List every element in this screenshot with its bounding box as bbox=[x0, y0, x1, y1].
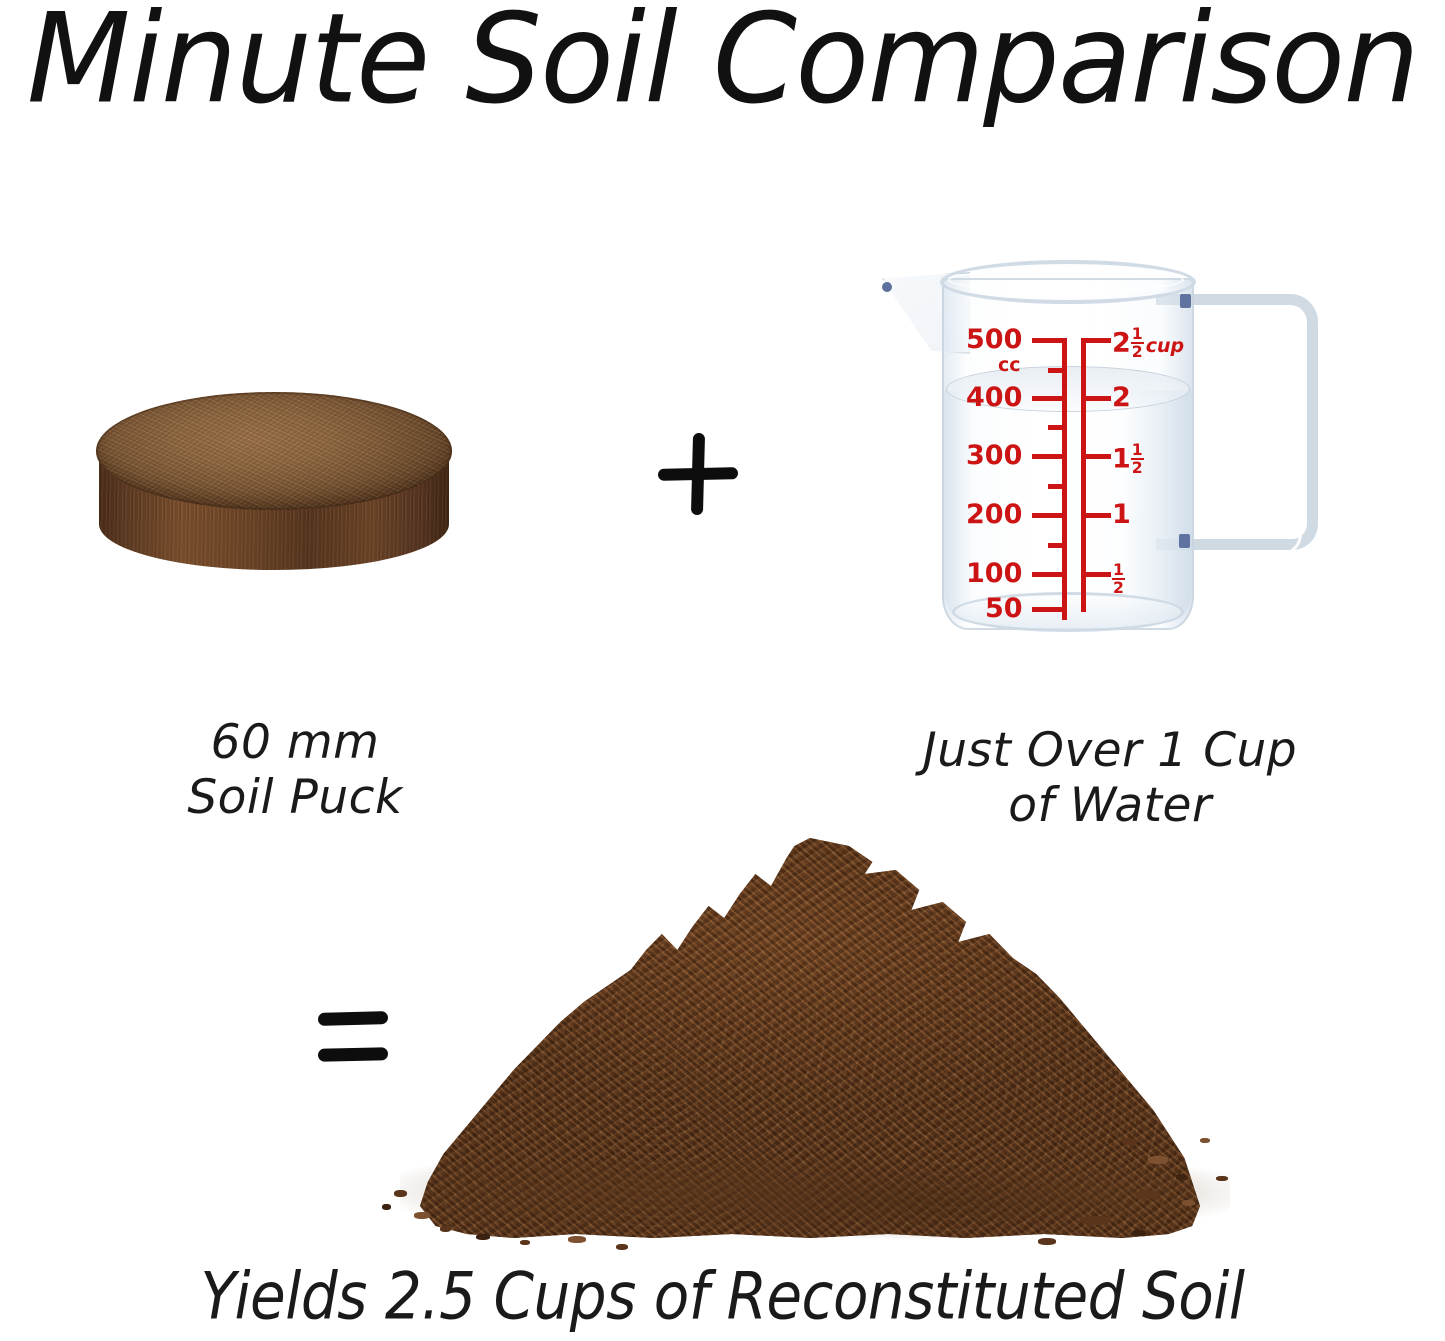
page-title: Minute Soil Comparison bbox=[0, 0, 1445, 127]
soil-crumb bbox=[1136, 1190, 1160, 1199]
soil-crumb bbox=[440, 1226, 451, 1232]
tick-cc-50 bbox=[1032, 607, 1066, 612]
equals-top-bar bbox=[318, 1011, 388, 1026]
soil-crumb bbox=[414, 1212, 430, 1219]
tick-cc-250 bbox=[1048, 484, 1066, 489]
measuring-cup-image: 500 cc 212cup 400 2 300 112 200 1 bbox=[880, 262, 1330, 662]
scale-label-cup-1-5: 112 bbox=[1112, 442, 1144, 475]
plus-operator-icon bbox=[654, 430, 742, 518]
tick-cc-150 bbox=[1048, 543, 1066, 548]
soil-crumb bbox=[1038, 1238, 1056, 1245]
scale-label-cc-400: 400 bbox=[966, 384, 1022, 411]
water-caption: Just Over 1 Cup of Water bbox=[830, 723, 1390, 834]
soil-puck-caption-line1: 60 mm bbox=[60, 715, 530, 770]
soil-crumb bbox=[1176, 1174, 1187, 1180]
yield-caption: Yields 2.5 Cups of Reconstituted Soil bbox=[0, 1258, 1445, 1335]
reconstituted-soil-pile-image bbox=[380, 838, 1240, 1258]
measuring-cup-scale: 500 cc 212cup 400 2 300 112 200 1 bbox=[880, 262, 1330, 662]
scale-unit-cup: cup bbox=[1146, 335, 1184, 357]
scale-label-cc-50: 50 bbox=[985, 595, 1023, 622]
soil-crumb bbox=[1182, 1200, 1195, 1206]
scale-label-cup-1: 1 bbox=[1112, 501, 1131, 528]
soil-crumb bbox=[1132, 1230, 1146, 1236]
water-caption-line1: Just Over 1 Cup bbox=[830, 723, 1390, 778]
scale-unit-cc: cc bbox=[998, 352, 1021, 379]
tick-cup-1 bbox=[1081, 513, 1111, 518]
tick-cc-350 bbox=[1048, 425, 1066, 430]
fraction-half-b: 12 bbox=[1131, 442, 1144, 475]
tick-cup-2-5 bbox=[1081, 338, 1111, 343]
fraction-half-c: 12 bbox=[1112, 562, 1125, 595]
soil-crumb bbox=[520, 1240, 530, 1245]
soil-crumb bbox=[1216, 1176, 1228, 1181]
soil-crumb bbox=[1200, 1138, 1210, 1143]
soil-puck-image bbox=[96, 392, 452, 592]
scale-label-cc-300: 300 bbox=[966, 442, 1022, 469]
tick-cup-1-5 bbox=[1081, 454, 1111, 459]
tick-cc-300 bbox=[1032, 454, 1066, 459]
tick-cc-100 bbox=[1032, 572, 1066, 577]
soil-crumb bbox=[476, 1234, 490, 1240]
soil-puck-rim bbox=[96, 392, 452, 510]
tick-cc-500 bbox=[1032, 338, 1066, 343]
soil-crumb bbox=[568, 1236, 586, 1243]
scale-label-cc-100: 100 bbox=[966, 560, 1022, 587]
soil-mound bbox=[420, 838, 1200, 1238]
soil-crumb bbox=[1080, 1216, 1110, 1225]
soil-puck-caption: 60 mm Soil Puck bbox=[60, 715, 530, 826]
scale-label-cup-2-5: 212cup bbox=[1112, 326, 1184, 360]
scale-label-cup-2: 2 bbox=[1112, 384, 1131, 411]
soil-crumb bbox=[394, 1190, 407, 1197]
soil-crumb bbox=[1148, 1156, 1168, 1164]
tick-cc-400 bbox=[1032, 396, 1066, 401]
scale-label-cc-200: 200 bbox=[966, 501, 1022, 528]
plus-vertical-bar bbox=[691, 433, 705, 515]
water-caption-line2: of Water bbox=[830, 778, 1390, 833]
scale-label-cc-500: 500 bbox=[966, 326, 1022, 353]
tick-cup-2 bbox=[1081, 396, 1111, 401]
fraction-half-a: 12 bbox=[1131, 326, 1144, 359]
tick-cc-200 bbox=[1032, 513, 1066, 518]
tick-cc-450 bbox=[1048, 368, 1066, 373]
soil-crumb bbox=[1122, 1138, 1137, 1145]
equals-bottom-bar bbox=[318, 1047, 388, 1061]
soil-crumb bbox=[616, 1244, 628, 1250]
soil-crumb bbox=[382, 1204, 391, 1210]
infographic-canvas: Minute Soil Comparison 500 cc 212 bbox=[0, 0, 1445, 1341]
scale-vertical-line-cc bbox=[1062, 338, 1067, 620]
tick-cup-0-5 bbox=[1081, 572, 1111, 577]
scale-label-cup-0-5: 12 bbox=[1112, 562, 1125, 595]
soil-puck-caption-line2: Soil Puck bbox=[60, 770, 530, 825]
